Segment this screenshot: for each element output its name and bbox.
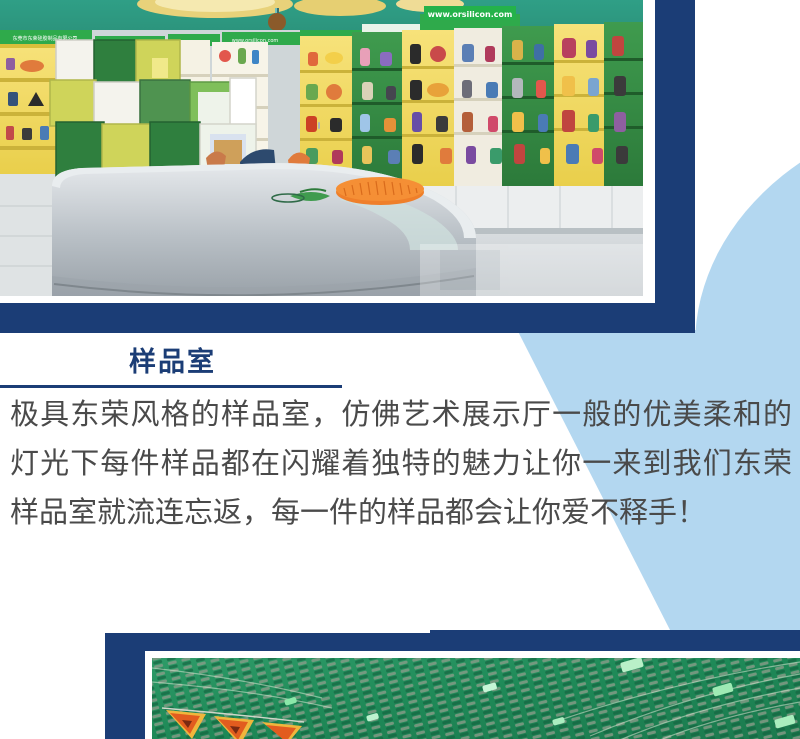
decor-navy-vertical-bar: [655, 0, 695, 333]
top-photo: www.orsilicon.com www.orsilicon.com 东莞市东…: [0, 0, 643, 296]
mesh-ceiling-photo-illustration: [152, 658, 800, 739]
page-title: 样品室: [0, 345, 345, 379]
page-root: www.orsilicon.com www.orsilicon.com 东莞市东…: [0, 0, 800, 739]
showroom-photo-illustration: www.orsilicon.com www.orsilicon.com 东莞市东…: [0, 0, 643, 296]
top-photo-frame: www.orsilicon.com www.orsilicon.com 东莞市东…: [0, 0, 655, 303]
decor-navy-horizontal-bar: [0, 303, 695, 333]
body-paragraph: 极具东荣风格的样品室，仿佛艺术展示厅一般的优美柔和的灯光下每件样品都在闪耀着独特…: [10, 391, 792, 538]
title-divider: [0, 385, 342, 388]
bottom-photo: [152, 658, 800, 739]
svg-text:www.orsilicon.com: www.orsilicon.com: [428, 10, 513, 19]
text-section: 样品室 极具东荣风格的样品室，仿佛艺术展示厅一般的优美柔和的灯光下每件样品都在闪…: [0, 333, 800, 630]
